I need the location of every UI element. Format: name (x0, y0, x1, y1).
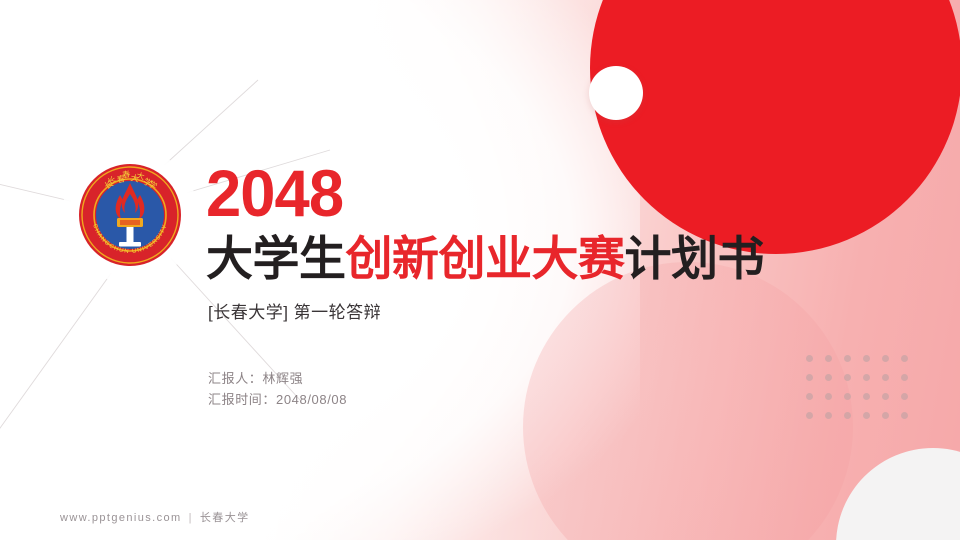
decorative-dot-grid (806, 355, 920, 431)
main-headline: 大学生创新创业大赛计划书 (206, 234, 846, 284)
presenter-name-line: 汇报人：林辉强 (208, 368, 347, 389)
footer-org: 长春大学 (200, 512, 250, 524)
presentation-title-slide: 长春大学 CHANGCHUN UNIVERSITY 长 春 大 学 2048 大… (0, 0, 960, 540)
footer: www.pptgenius.com|长春大学 (60, 509, 250, 525)
footer-separator: | (189, 512, 193, 524)
year-heading: 2048 (206, 160, 820, 226)
headline-part-3: 计划书 (625, 232, 765, 285)
footer-site: www.pptgenius.com (60, 512, 182, 524)
decorative-white-dot-circle (589, 66, 643, 120)
headline-part-1: 大学生 (206, 232, 346, 285)
headline-part-2: 创新创业大赛 (346, 232, 625, 285)
title-block: 2048 大学生创新创业大赛计划书 [长春大学] 第一轮答辩 (206, 160, 846, 324)
presenter-meta: 汇报人：林辉强 汇报时间：2048/08/08 (208, 368, 347, 410)
presentation-date-line: 汇报时间：2048/08/08 (208, 389, 347, 410)
subtitle: [长春大学] 第一轮答辩 (208, 302, 846, 324)
university-logo: 长春大学 CHANGCHUN UNIVERSITY 长 春 大 学 (76, 161, 184, 269)
